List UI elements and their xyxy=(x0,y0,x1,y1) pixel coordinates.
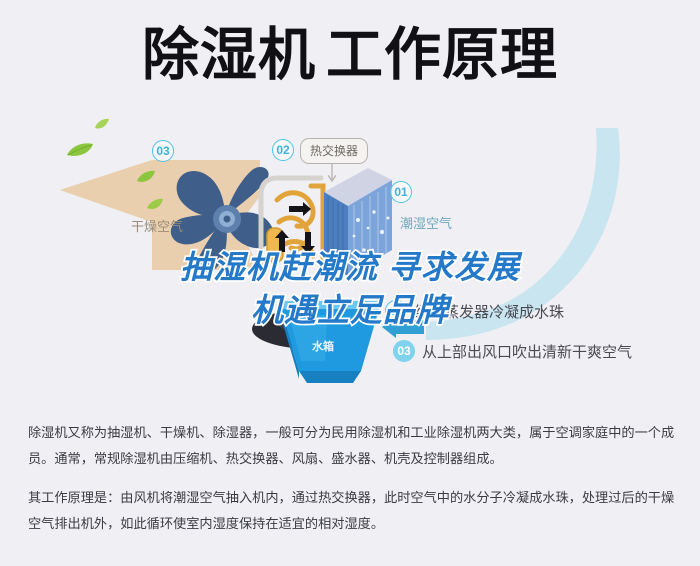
explanation-text-03: 从上部出风口吹出清新干爽空气 xyxy=(422,341,632,362)
badge-02-heat-exchanger-label: 02 xyxy=(276,143,289,157)
heat-exchanger-callout-label: 热交换器 xyxy=(310,144,358,158)
leaf-icon xyxy=(94,118,110,130)
leaf-icon xyxy=(136,170,156,184)
overlay-headline-line1: 抽湿机赶潮流 寻求发展 xyxy=(180,249,520,285)
body-paragraph-2: 其工作原理是：由风机将潮湿空气抽入机内，通过热交换器，此时空气中的水分子冷凝成水… xyxy=(28,485,678,536)
leaf-icon xyxy=(66,142,94,158)
badge-01-humid-air: 01 xyxy=(390,181,412,203)
explanation-line-03: 03 从上部出风口吹出清新干爽空气 xyxy=(393,340,632,362)
badge-03-dry-air: 03 xyxy=(152,140,174,162)
page-title: 除湿机工作原理 xyxy=(0,24,700,88)
page-title-part1: 除湿机 xyxy=(142,23,316,87)
body-copy: 除湿机又称为抽湿机、干燥机、除湿器，一般可分为民用除湿机和工业除湿机两大类，属于… xyxy=(28,420,678,537)
callout-tail-icon xyxy=(327,163,337,182)
infographic-page: 除湿机工作原理 xyxy=(0,0,700,566)
badge-01-humid-air-label: 01 xyxy=(394,185,407,199)
page-title-part2: 工作原理 xyxy=(326,23,558,87)
overlay-headline-line2: 机遇立足品牌 xyxy=(0,289,700,332)
humid-air-label: 潮湿空气 xyxy=(400,213,452,232)
badge-02-heat-exchanger: 02 xyxy=(272,139,294,161)
badge-03-dry-air-label: 03 xyxy=(156,144,169,158)
dry-air-label: 干燥空气 xyxy=(131,216,183,235)
leaf-icon xyxy=(146,198,164,211)
overlay-headline: 抽湿机赶潮流 寻求发展 机遇立足品牌 xyxy=(0,246,700,331)
explanation-badge-03: 03 xyxy=(393,340,415,362)
water-tank-label: 水箱 xyxy=(312,338,334,354)
body-paragraph-1: 除湿机又称为抽湿机、干燥机、除湿器，一般可分为民用除湿机和工业除湿机两大类，属于… xyxy=(28,420,678,471)
heat-exchanger-callout: 热交换器 xyxy=(300,138,368,164)
explanation-badge-03-label: 03 xyxy=(397,344,410,358)
